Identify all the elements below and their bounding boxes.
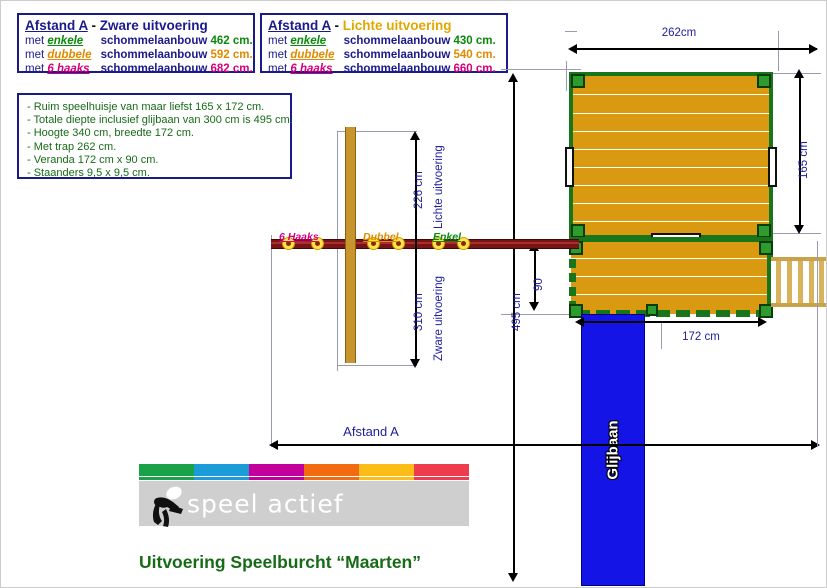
arrow-down-icon [508, 573, 518, 582]
arrow-up-icon [508, 73, 518, 82]
spec-line: - Veranda 172 cm x 90 cm. [27, 154, 282, 167]
row-met: met [268, 63, 287, 75]
info-box-zware-uitvoering: Afstand A - Zware uitvoering met enkele … [17, 13, 255, 73]
arrow-right-icon [811, 440, 820, 450]
row-word: schommelaanbouw [344, 63, 451, 75]
row-kind: 6 haaks [290, 62, 340, 76]
arrow-left-icon [568, 44, 577, 54]
dimension-label-310cm: 310 cm [413, 293, 425, 331]
info-box-lichte-title: Afstand A - Lichte uitvoering [262, 15, 506, 34]
stair-rung [787, 261, 792, 303]
row-kind: enkele [290, 34, 340, 48]
info-box-zware-title-link: Afstand A [25, 18, 88, 33]
slide-label: Glijbaan [605, 420, 622, 479]
vertical-label-zware-uitvoering: Zware uitvoering [433, 276, 445, 361]
swing-label-enkel: Enkel [433, 231, 461, 243]
floor-plank [573, 203, 769, 204]
row-met: met [268, 35, 287, 47]
drawing-canvas: Afstand A - Zware uitvoering met enkele … [0, 0, 827, 588]
logo-bar2-red [414, 477, 469, 480]
logo-bar2-magenta [249, 477, 304, 480]
row-met: met [25, 63, 44, 75]
row-word: schommelaanbouw [101, 35, 208, 47]
stair-rung [798, 261, 803, 303]
veranda-plank [571, 258, 771, 259]
logo-bar-magenta [249, 464, 304, 476]
guide-line [817, 241, 818, 446]
logo-bar2-yellow [359, 477, 414, 480]
row-value: 430 cm. [454, 35, 496, 47]
info-box-lichte-title-dash: - [335, 18, 340, 33]
row-word: schommelaanbouw [344, 49, 451, 61]
corner-post [757, 224, 771, 238]
arrow-down-icon [529, 302, 539, 311]
veranda-plank [571, 276, 771, 277]
veranda-floor [571, 241, 771, 314]
dimension-label-226cm: 226 cm [413, 171, 425, 209]
info-row: met 6 haaks schommelaanbouw 682 cm. [19, 62, 253, 76]
window-left [565, 147, 574, 187]
dimension-line-afstand-a [275, 444, 817, 446]
row-met: met [268, 49, 287, 61]
floor-plank [573, 113, 769, 114]
info-row: met enkele schommelaanbouw 430 cm. [262, 34, 506, 48]
spec-line: - Ruim speelhuisje van maar liefst 165 x… [27, 101, 282, 114]
dimension-line-172cm [579, 321, 765, 323]
specifications-box: - Ruim speelhuisje van maar liefst 165 x… [17, 93, 292, 179]
arrow-down-icon [410, 359, 420, 368]
row-kind: enkele [47, 34, 97, 48]
floor-plank [573, 167, 769, 168]
info-box-zware-title: Afstand A - Zware uitvoering [19, 15, 253, 34]
row-word: schommelaanbouw [344, 35, 451, 47]
info-row: met enkele schommelaanbouw 462 cm. [19, 34, 253, 48]
corner-post [571, 224, 585, 238]
veranda-plank [571, 294, 771, 295]
logo-bar-blue [194, 464, 249, 476]
corner-post [571, 74, 585, 88]
footer-title: Uitvoering Speelburcht “Maarten” [139, 552, 421, 573]
veranda-mid-post [646, 304, 658, 316]
info-row: met dubbele schommelaanbouw 592 cm. [19, 48, 253, 62]
info-row: met dubbele schommelaanbouw 540 cm. [262, 48, 506, 62]
floor-plank [573, 149, 769, 150]
floor-plank [573, 94, 769, 95]
dimension-line-262cm [571, 48, 817, 50]
row-met: met [25, 35, 44, 47]
spec-line: - Staanders 9,5 x 9,5 cm. [27, 167, 282, 180]
row-value: 462 cm. [211, 35, 253, 47]
logo-color-bars [139, 464, 469, 476]
guide-line [337, 365, 417, 366]
floor-plank [573, 221, 769, 222]
stair-rung [776, 261, 781, 303]
logo-bar2-green [139, 477, 194, 480]
logo-bar-green [139, 464, 194, 476]
brand-logo: speel actief [139, 464, 469, 526]
arrow-down-icon [794, 225, 804, 234]
row-value: 592 cm. [211, 49, 253, 61]
floor-plank [573, 131, 769, 132]
logo-grey-panel: speel actief [139, 481, 469, 526]
info-row: met 6 haaks schommelaanbouw 660 cm. [262, 62, 506, 76]
dimension-label-172cm: 172 cm [682, 331, 720, 343]
info-box-lichte-title-kind: Lichte uitvoering [343, 18, 452, 33]
arrow-left-icon [269, 440, 278, 450]
logo-bar-yellow [359, 464, 414, 476]
vertical-label-lichte-uitvoering: Lichte uitvoering [433, 145, 445, 229]
spec-line: - Totale diepte inclusief glijbaan van 3… [27, 114, 282, 127]
swing-label-6-haaks: 6 Haaks [279, 231, 319, 243]
row-kind: 6 haaks [47, 62, 97, 76]
guide-line [566, 61, 567, 91]
row-value: 682 cm. [211, 63, 253, 75]
vertical-support-post [345, 127, 356, 363]
row-value: 660 cm. [454, 63, 496, 75]
arrow-left-icon [575, 317, 584, 327]
playhouse-main-body [569, 72, 773, 239]
logo-bar-red [414, 464, 469, 476]
row-word: schommelaanbouw [101, 63, 208, 75]
arrow-up-icon [410, 131, 420, 140]
arrow-up-icon [794, 69, 804, 78]
logo-bar2-orange [304, 477, 359, 480]
floor-plank [573, 185, 769, 186]
row-kind: dubbele [47, 48, 97, 62]
arrow-right-icon [758, 317, 767, 327]
guide-line [565, 31, 577, 32]
dimension-label-90: 90 [533, 278, 545, 291]
guide-line [271, 235, 272, 447]
corner-post [757, 74, 771, 88]
info-box-zware-title-kind: Zware uitvoering [100, 18, 208, 33]
swing-label-dubbel: Dubbel [363, 231, 399, 243]
guide-line [501, 69, 581, 70]
row-met: met [25, 49, 44, 61]
veranda-corner-post [759, 241, 773, 255]
spec-line: - Met trap 262 cm. [27, 141, 282, 154]
slide-glijbaan: Glijbaan [581, 314, 645, 586]
arrow-right-icon [809, 44, 818, 54]
dimension-label-165cm: 165 cm [798, 141, 810, 179]
row-word: schommelaanbouw [101, 49, 208, 61]
dimension-label-262cm: 262cm [662, 27, 697, 39]
info-box-lichte-uitvoering: Afstand A - Lichte uitvoering met enkele… [260, 13, 508, 73]
running-figure-icon [149, 485, 191, 529]
logo-color-bars-thin [139, 477, 469, 480]
guide-line [778, 31, 779, 71]
info-box-zware-title-dash: - [92, 18, 97, 33]
spec-line: - Hoogte 340 cm, breedte 172 cm. [27, 127, 282, 140]
logo-bar2-blue [194, 477, 249, 480]
row-kind: dubbele [290, 48, 340, 62]
guide-line [337, 131, 338, 371]
guide-line [661, 321, 662, 349]
stair-rung [819, 261, 824, 303]
veranda-top-edge [569, 237, 773, 242]
dimension-label-afstand-a: Afstand A [343, 424, 399, 439]
dimension-label-495cm: 495 cm [511, 293, 523, 331]
row-value: 540 cm. [454, 49, 496, 61]
stair-rung [809, 261, 814, 303]
window-right [768, 147, 777, 187]
info-box-lichte-title-link: Afstand A [268, 18, 331, 33]
logo-bar-orange [304, 464, 359, 476]
logo-brand-text: speel actief [187, 489, 344, 518]
